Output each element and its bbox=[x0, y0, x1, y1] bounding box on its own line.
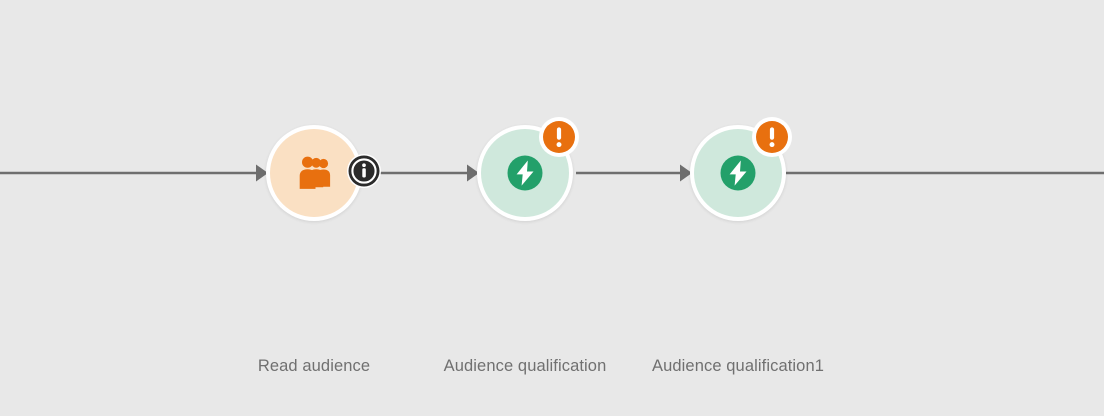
lightning-bolt-icon bbox=[716, 151, 760, 195]
info-icon bbox=[346, 153, 382, 189]
warning-icon bbox=[754, 119, 790, 155]
node-label: Audience qualification1 bbox=[652, 357, 824, 376]
workflow-canvas[interactable]: Read audience Audience qualification bbox=[0, 0, 1104, 416]
lightning-bolt-icon bbox=[503, 151, 547, 195]
edge-qualification-to-qualification1[interactable] bbox=[576, 165, 692, 182]
node-label: Read audience bbox=[258, 357, 370, 376]
warning-icon bbox=[541, 119, 577, 155]
info-badge[interactable] bbox=[344, 151, 384, 191]
warning-badge[interactable] bbox=[752, 117, 792, 157]
node-audience-qualification1[interactable]: Audience qualification1 bbox=[690, 125, 786, 221]
edge-read-audience-to-qualification[interactable] bbox=[371, 165, 479, 182]
warning-badge[interactable] bbox=[539, 117, 579, 157]
node-label: Audience qualification bbox=[444, 357, 607, 376]
node-audience-qualification[interactable]: Audience qualification bbox=[477, 125, 573, 221]
node-read-audience[interactable]: Read audience bbox=[266, 125, 362, 221]
edge-incoming[interactable] bbox=[0, 165, 268, 182]
people-icon bbox=[292, 151, 336, 195]
